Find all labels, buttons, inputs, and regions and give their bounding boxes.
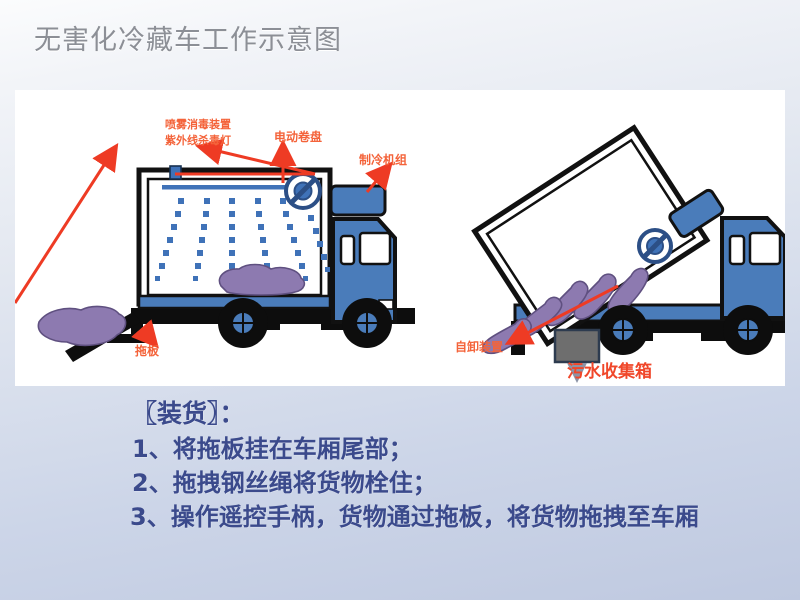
caption-step-3: 3、操作遥控手柄，货物通过拖板，将货物拖拽至车厢 [130, 500, 792, 534]
caption-block: 〖装货〗： 1、将拖板挂在车厢尾部； 2、拖拽钢丝绳将货物栓住； 3、操作遥控手… [132, 398, 792, 534]
sewage-collection-tank [555, 330, 599, 362]
page-title: 无害化冷藏车工作示意图 [34, 24, 342, 58]
caption-step-2: 2、拖拽钢丝绳将货物栓住； [132, 466, 792, 500]
label-self-unload-device: 自卸装置 [455, 340, 503, 354]
right-truck-group [475, 128, 785, 378]
refrigerated-truck-diagram [15, 90, 785, 386]
label-uv-lamp: 紫外线杀毒灯 [165, 134, 231, 148]
caption-step-1: 1、将拖板挂在车厢尾部； [132, 432, 792, 466]
electric-reel [286, 174, 320, 208]
label-electric-reel: 电动卷盘 [274, 130, 322, 144]
diagram-panel: 喷雾消毒装置 紫外线杀毒灯 电动卷盘 制冷机组 拖板 自卸装置 污水收集箱 [15, 90, 785, 386]
carcass-in-box [219, 265, 304, 296]
slide-canvas: 无害化冷藏车工作示意图 [0, 0, 800, 600]
label-refrigeration-unit: 制冷机组 [359, 153, 407, 167]
caption-heading: 〖装货〗： [132, 398, 792, 430]
left-truck-group [15, 145, 415, 362]
right-electric-reel [639, 230, 671, 262]
label-drag-board: 拖板 [135, 344, 159, 358]
refrigeration-unit [331, 186, 385, 215]
right-truck-cab [722, 218, 785, 318]
carcass-on-ground [38, 307, 125, 346]
label-spray-disinfection: 喷雾消毒装置 [165, 118, 231, 132]
label-sewage-collection-tank: 污水收集箱 [567, 365, 652, 379]
